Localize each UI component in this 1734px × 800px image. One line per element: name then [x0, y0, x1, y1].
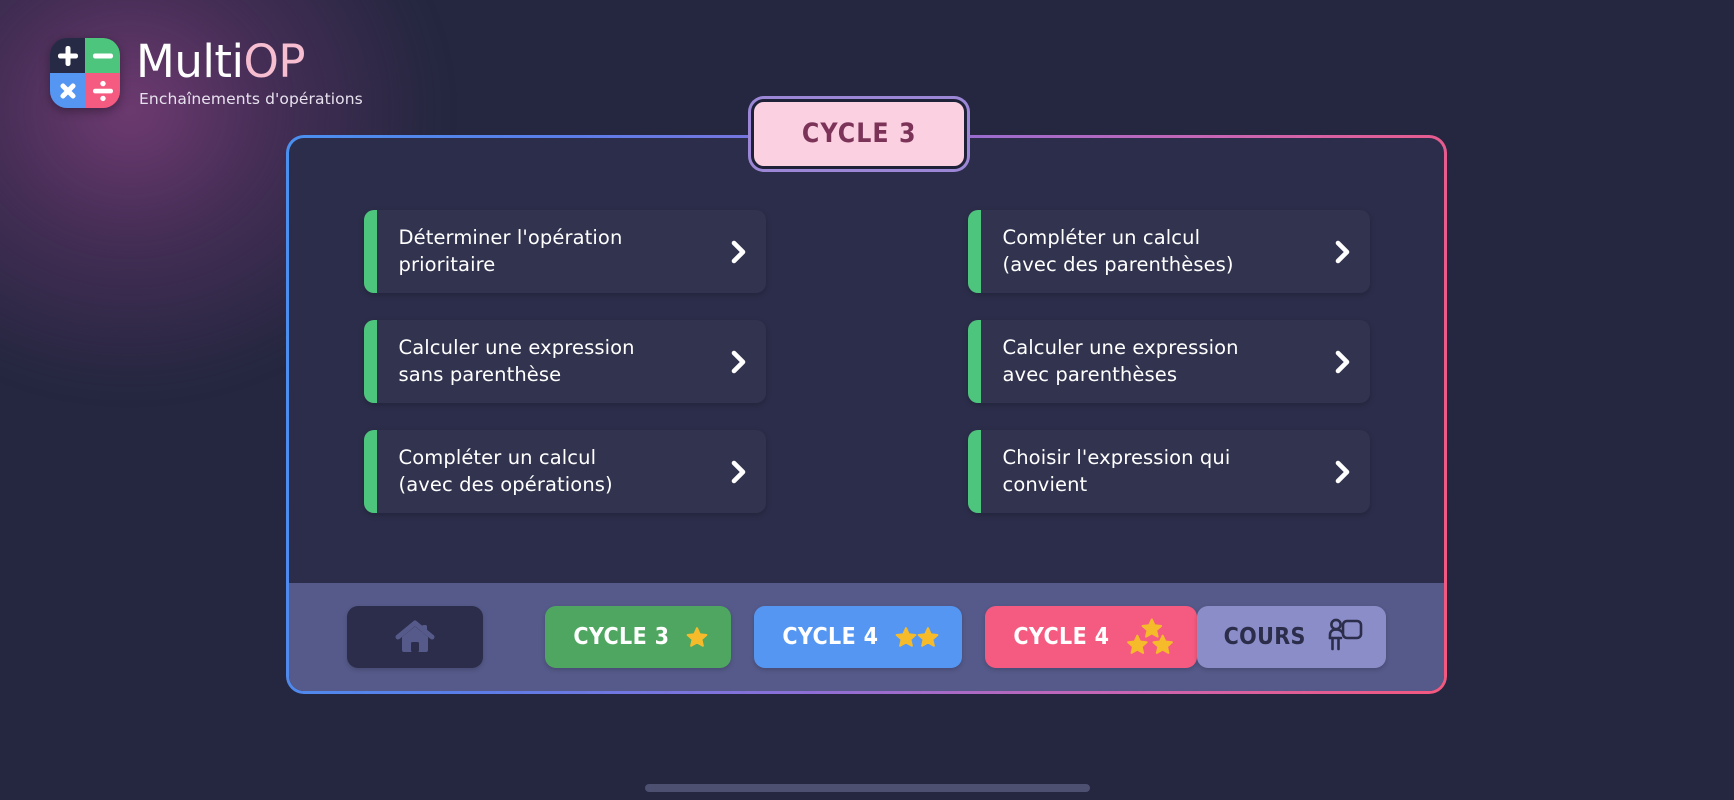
app-title-secondary: OP: [244, 35, 306, 88]
horizontal-scrollbar-track[interactable]: [0, 778, 1734, 800]
exercise-card-label: Déterminer l'opération prioritaire: [377, 225, 710, 279]
chevron-right-icon[interactable]: [1314, 237, 1370, 267]
teacher-presentation-icon: [1324, 616, 1364, 658]
app-title: MultiOP: [136, 39, 363, 84]
app-title-primary: Multi: [136, 35, 244, 88]
app-subtitle: Enchaînements d'opérations: [139, 90, 363, 108]
cours-button[interactable]: COURS: [1197, 606, 1386, 668]
exercise-card-label: Calculer une expression avec parenthèses: [981, 335, 1314, 389]
card-accent-bar: [364, 320, 377, 403]
horizontal-scrollbar-thumb[interactable]: [645, 784, 1090, 792]
divide-icon: [85, 73, 120, 108]
star-rating: [895, 626, 939, 648]
main-panel: Déterminer l'opération prioritaire Compl…: [286, 135, 1447, 694]
exercise-card[interactable]: Calculer une expression sans parenthèse: [364, 320, 766, 403]
bottom-navigation: CYCLE 3 CYCLE 4 CYCLE 4: [289, 583, 1444, 691]
exercise-list: Déterminer l'opération prioritaire Compl…: [289, 138, 1444, 583]
star-rating: [686, 626, 708, 648]
cycle-tab[interactable]: CYCLE 3: [748, 96, 970, 172]
exercise-card-label: Compléter un calcul (avec des parenthèse…: [981, 225, 1314, 279]
cycle4-three-star-nav-button[interactable]: CYCLE 4: [985, 606, 1197, 668]
exercise-card[interactable]: Compléter un calcul (avec des parenthèse…: [968, 210, 1370, 293]
cours-button-label: COURS: [1223, 624, 1305, 650]
app-logo: MultiOP Enchaînements d'opérations: [50, 38, 363, 108]
chevron-right-icon[interactable]: [710, 347, 766, 377]
minus-icon: [85, 38, 120, 73]
cycle3-nav-label: CYCLE 3: [574, 624, 670, 650]
card-accent-bar: [968, 210, 981, 293]
exercise-card[interactable]: Choisir l'expression qui convient: [968, 430, 1370, 513]
exercise-card[interactable]: Calculer une expression avec parenthèses: [968, 320, 1370, 403]
cycle4-two-star-nav-label: CYCLE 4: [782, 624, 878, 650]
exercise-card[interactable]: Compléter un calcul (avec des opérations…: [364, 430, 766, 513]
home-button[interactable]: [347, 606, 483, 668]
card-accent-bar: [364, 430, 377, 513]
exercise-card-label: Calculer une expression sans parenthèse: [377, 335, 710, 389]
exercise-card[interactable]: Déterminer l'opération prioritaire: [364, 210, 766, 293]
cycle-tab-label: CYCLE 3: [802, 118, 917, 149]
exercise-card-label: Choisir l'expression qui convient: [981, 445, 1314, 499]
chevron-right-icon[interactable]: [710, 237, 766, 267]
cycle4-three-star-nav-label: CYCLE 4: [1013, 624, 1109, 650]
card-accent-bar: [364, 210, 377, 293]
cycle3-nav-button[interactable]: CYCLE 3: [545, 606, 731, 668]
times-icon: [50, 73, 85, 108]
plus-icon: [50, 38, 85, 73]
cycle-tab-inner[interactable]: CYCLE 3: [751, 99, 967, 169]
card-accent-bar: [968, 320, 981, 403]
home-icon: [394, 618, 436, 656]
exercise-card-label: Compléter un calcul (avec des opérations…: [377, 445, 710, 499]
chevron-right-icon[interactable]: [1314, 347, 1370, 377]
main-panel-inner: Déterminer l'opération prioritaire Compl…: [289, 138, 1444, 691]
cycle4-two-star-nav-button[interactable]: CYCLE 4: [754, 606, 962, 668]
chevron-right-icon[interactable]: [710, 457, 766, 487]
chevron-right-icon[interactable]: [1314, 457, 1370, 487]
logo-mark: [50, 38, 120, 108]
star-rating: [1126, 618, 1174, 656]
card-accent-bar: [968, 430, 981, 513]
